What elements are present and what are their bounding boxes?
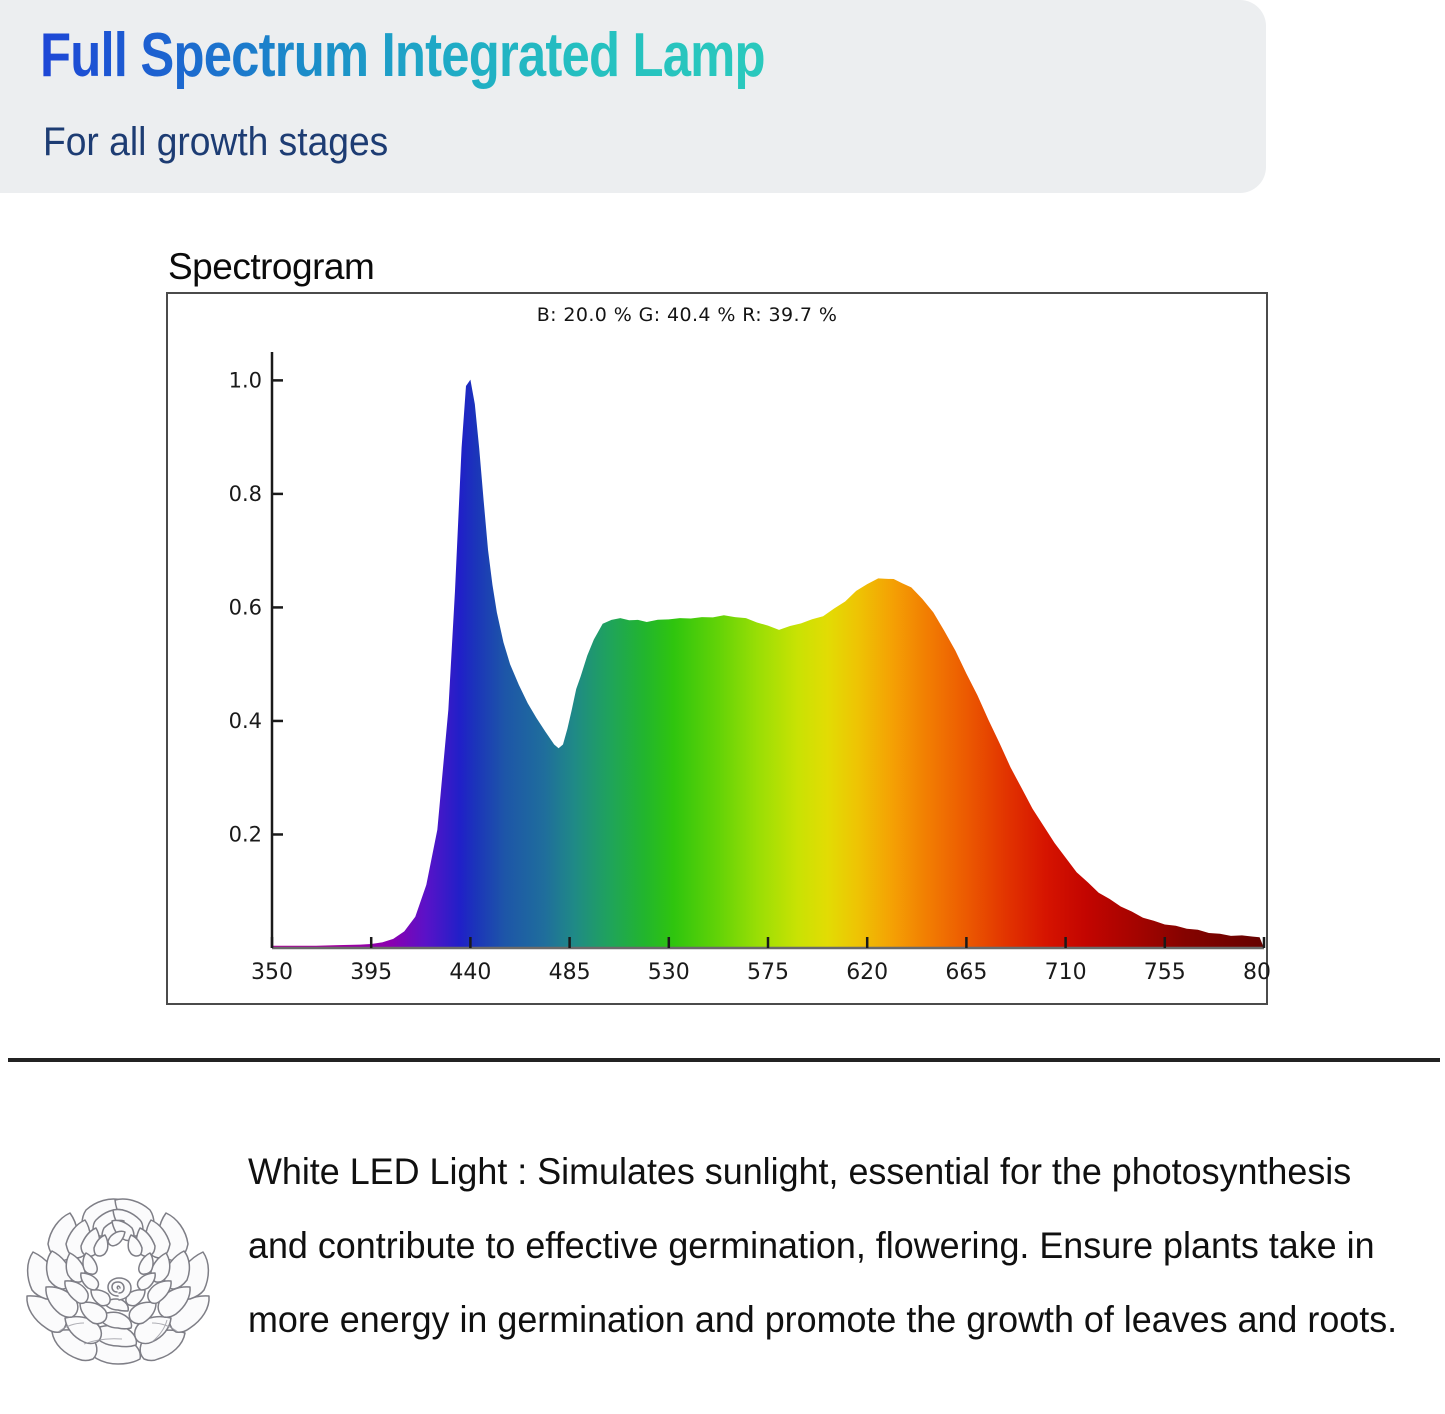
svg-text:1.0: 1.0 [229, 368, 262, 392]
succulent-plant-icon [18, 1196, 218, 1366]
svg-text:530: 530 [648, 960, 690, 985]
svg-text:440: 440 [449, 960, 491, 985]
svg-text:350: 350 [251, 960, 293, 985]
svg-text:800: 800 [1243, 960, 1270, 985]
chart-title: Spectrogram [168, 246, 374, 288]
svg-text:0.6: 0.6 [229, 595, 262, 619]
header-panel: Full Spectrum Integrated Lamp For all gr… [0, 0, 1266, 193]
svg-text:485: 485 [549, 960, 591, 985]
svg-text:0.2: 0.2 [229, 822, 262, 846]
svg-text:0.4: 0.4 [229, 709, 262, 733]
product-infographic-page: Full Spectrum Integrated Lamp For all gr… [0, 0, 1445, 1414]
page-title: Full Spectrum Integrated Lamp [40, 20, 765, 91]
svg-text:665: 665 [945, 960, 987, 985]
spectrogram-chart: B: 20.0 % G: 40.4 % R: 39.7 % [166, 292, 1268, 1005]
section-divider [8, 1058, 1440, 1062]
svg-text:395: 395 [350, 960, 392, 985]
chart-legend: B: 20.0 % G: 40.4 % R: 39.7 % [168, 304, 1266, 326]
spectrum-curve [272, 380, 1264, 948]
svg-text:710: 710 [1045, 960, 1087, 985]
spectrum-plot-svg: 0.20.40.60.81.0 350395440485530575620665… [218, 348, 1270, 1007]
plot-area: 0.20.40.60.81.0 350395440485530575620665… [218, 348, 1270, 1007]
svg-text:0.8: 0.8 [229, 482, 262, 506]
svg-text:575: 575 [747, 960, 789, 985]
page-subtitle: For all growth stages [43, 120, 388, 165]
svg-text:755: 755 [1144, 960, 1186, 985]
body-paragraph: White LED Light : Simulates sunlight, es… [248, 1135, 1404, 1357]
y-axis-ticks: 0.20.40.60.81.0 [229, 368, 283, 846]
svg-text:620: 620 [846, 960, 888, 985]
